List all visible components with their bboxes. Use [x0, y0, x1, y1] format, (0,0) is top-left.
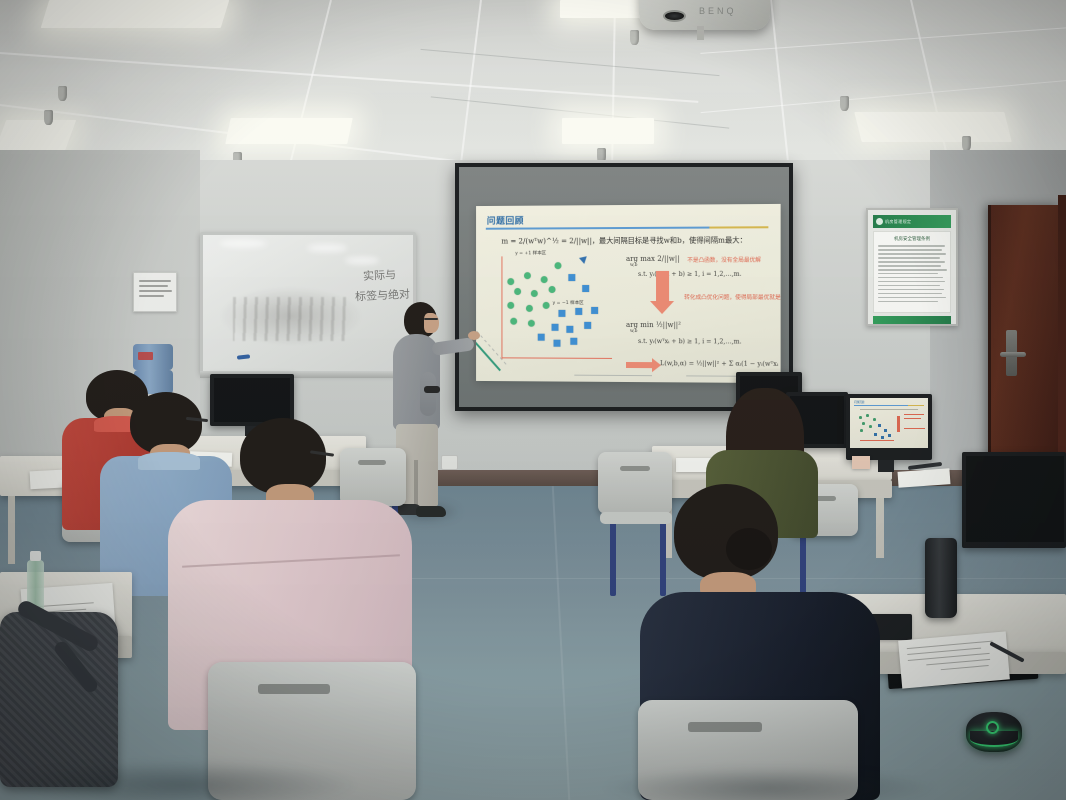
plot-point-positive [524, 272, 531, 279]
formula-min-norm-constraint: s.t. yᵢ(wᵀxᵢ + b) ≥ 1, i = 1,2,…,m. [638, 338, 742, 345]
formula-max-margin-constraint: s.t. yᵢ(wᵀxᵢ + b) ≥ 1, i = 1,2,…,m. [638, 271, 742, 278]
whiteboard: 实际与 标签与绝对 [200, 232, 416, 374]
ceiling-light [854, 112, 1011, 142]
formula-max-margin: arg max 2/||w|| [626, 255, 680, 263]
plot-label-negative: y = −1 样本区 [553, 300, 584, 306]
presenter-clicker[interactable] [424, 386, 440, 393]
door-handle[interactable] [1000, 352, 1026, 357]
plot-point-negative [570, 338, 577, 345]
ceiling-light [41, 0, 230, 28]
ceiling-projector: BENQ [639, 0, 770, 30]
monitor-slide-content: 问题回顾 [850, 398, 928, 448]
chair-handle-slot [258, 684, 330, 694]
plot-point-positive [526, 305, 533, 312]
plot-x-axis [501, 357, 612, 359]
slide-title: 问题回顾 [487, 214, 524, 227]
plot-point-positive [549, 286, 556, 293]
chair-leg [800, 528, 806, 600]
poster-title: 机房安全管理条例 [877, 236, 947, 242]
presenter-face [424, 313, 439, 333]
ceiling-light [562, 118, 654, 144]
plot-point-positive [541, 276, 548, 283]
plot-label-positive: y = +1 样本区 [515, 250, 546, 256]
plot-point-positive [514, 288, 521, 295]
projector-mount [697, 26, 704, 40]
sprinkler-icon [58, 86, 67, 101]
safety-regulations-poster: 机房管理规定 机房安全管理条例 [866, 208, 958, 326]
slide-rule-accent [709, 226, 768, 228]
projector-brand-label: BENQ [699, 6, 737, 16]
ceiling-light [225, 118, 353, 144]
plot-point-negative [558, 310, 565, 317]
monitor-screen [966, 456, 1064, 542]
annotation-non-convex: 不是凸函数，没有全局最优解 [687, 256, 761, 264]
plot-point-positive [531, 290, 538, 297]
shirt-collar [138, 452, 200, 470]
sprinkler-icon [630, 30, 639, 45]
plot-point-negative [575, 308, 582, 315]
annotation-convex-conversion: 转化成凸优化问题，使得局部最优就是全局最优 [684, 293, 780, 301]
plot-point-positive [510, 318, 517, 325]
plot-point-positive [507, 302, 514, 309]
poster-header: 机房管理规定 [873, 215, 951, 228]
student-head [240, 418, 326, 494]
handwritten-notes [898, 631, 1010, 688]
svm-scatter-plot: y = +1 样本区 y = −1 样本区 [494, 252, 617, 364]
plot-margin-arrow-icon [579, 253, 589, 264]
slide-rule-primary [486, 227, 710, 230]
chair-handle-slot [358, 460, 386, 465]
whiteboard-handwriting-2: 标签与绝对 [355, 286, 411, 305]
whiteboard-handwriting-1: 实际与 [363, 266, 397, 284]
plot-point-positive [543, 302, 550, 309]
presenter-hand [468, 331, 480, 340]
transform-arrow-icon [656, 271, 669, 301]
plot-point-negative [566, 326, 573, 333]
sprinkler-icon [840, 96, 849, 111]
projector-lens-icon [663, 10, 686, 22]
plot-point-positive [528, 320, 535, 327]
desk-leg [876, 498, 884, 558]
whiteboard-erased-marks-2 [233, 297, 351, 341]
poster-header-text: 机房管理规定 [885, 219, 911, 225]
water-jug-label [138, 352, 153, 360]
formula-min-norm-sub: w,b [630, 329, 637, 334]
plot-point-negative [568, 274, 575, 281]
plot-point-negative [538, 334, 545, 341]
plot-point-negative [584, 322, 591, 329]
plot-y-axis [501, 256, 502, 359]
monitor-screen [214, 378, 290, 422]
sticky-note [852, 456, 870, 469]
monitor-stand [878, 460, 894, 472]
plot-point-negative [591, 307, 598, 314]
chair-handle-slot [688, 722, 762, 732]
presenter-leg-gap [414, 460, 418, 506]
sprinkler-icon [962, 136, 971, 151]
desk-leg [8, 496, 15, 564]
plot-separating-hyperplane [476, 283, 501, 371]
poster-footer [873, 316, 951, 324]
wall-notice [133, 272, 177, 312]
logitech-logo-icon [986, 721, 999, 734]
plot-point-negative [582, 285, 589, 292]
lagrangian-arrow-icon [626, 362, 652, 368]
plot-point-negative [552, 324, 559, 331]
chair[interactable] [598, 452, 672, 514]
plot-point-positive [555, 262, 562, 269]
sprinkler-icon [44, 110, 53, 125]
wall-power-outlet[interactable] [441, 455, 458, 470]
chair-handle-slot [620, 466, 650, 471]
monitor-slide-title: 问题回顾 [854, 400, 864, 404]
formula-min-norm: arg min ½||w||² [626, 321, 681, 329]
tumbler[interactable] [925, 538, 957, 618]
presenter-lower-arm [420, 372, 436, 416]
classroom-photo: BENQ 实际与 标签与绝对 机房管理规定 机房安全管理条例 [0, 0, 1066, 800]
chair-seat [600, 512, 672, 524]
plot-point-negative [554, 340, 561, 347]
formula-lagrangian: L(w,b,α) = ½||w||² + Σ αᵢ(1 − yᵢ(wᵀxᵢ + … [660, 359, 781, 368]
plot-point-positive [507, 278, 514, 285]
poster-logo-icon [876, 218, 883, 225]
poster-body: 机房安全管理条例 [873, 231, 951, 313]
formula-max-margin-sub: w,b [630, 263, 637, 268]
presenter-shoe [416, 506, 446, 517]
presentation-slide: 问题回顾 m = 2/(wᵀw)^½ = 2/||w||，最大间隔目标是寻找w和… [476, 204, 781, 383]
ceiling-light [0, 120, 76, 154]
student-hair-bun [726, 528, 772, 570]
chair[interactable] [340, 448, 406, 506]
bottle-cap [30, 551, 41, 561]
slide-top-equation: m = 2/(wᵀw)^½ = 2/||w||，最大间隔目标是寻找w和b，使得间… [501, 235, 746, 246]
